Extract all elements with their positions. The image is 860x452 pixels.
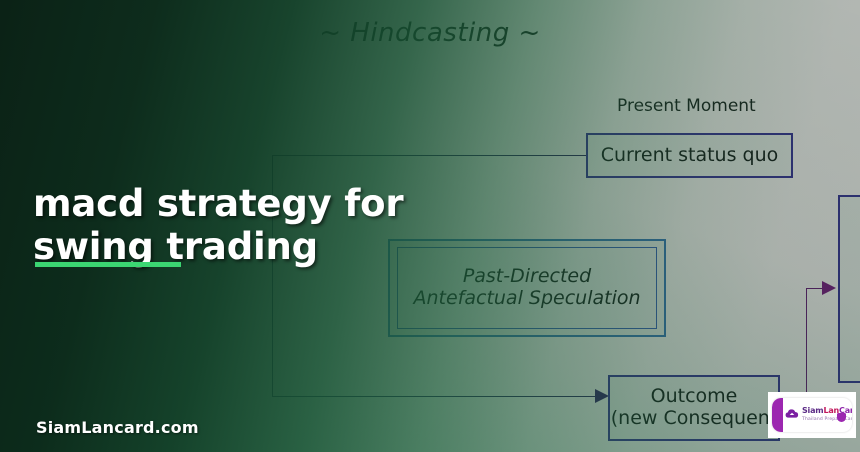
headline: macd strategy for swing trading bbox=[33, 183, 503, 269]
box-outcome: Outcome (new Consequent bbox=[608, 375, 780, 441]
present-moment-label: Present Moment bbox=[617, 96, 756, 116]
cloud-icon bbox=[785, 408, 799, 419]
box-right-edge-partial bbox=[838, 195, 860, 383]
headline-underline-accent bbox=[35, 262, 181, 267]
siamlancard-logo-badge[interactable]: SiamLanCard Thailand Prepaid Card bbox=[768, 392, 856, 438]
site-name-watermark: SiamLancard.com bbox=[36, 418, 199, 437]
box-current-status-quo: Current status quo bbox=[586, 133, 793, 178]
connector-top-horizontal bbox=[272, 155, 586, 156]
outcome-line-1: Outcome bbox=[611, 386, 778, 408]
arrowhead-purple-to-right-box bbox=[822, 281, 836, 295]
arrowhead-to-outcome bbox=[595, 389, 609, 403]
speculation-line-2: Antefactual Speculation bbox=[413, 288, 640, 310]
connector-bottom-horizontal bbox=[272, 396, 607, 397]
diagram-title: ~ Hindcasting ~ bbox=[0, 18, 860, 48]
connector-purple-vertical bbox=[806, 288, 807, 396]
headline-line-1: macd strategy for bbox=[33, 183, 503, 226]
speculation-line-1: Past-Directed bbox=[413, 266, 640, 288]
logo-card: SiamLanCard Thailand Prepaid Card bbox=[772, 398, 852, 432]
logo-brand-siam: Siam bbox=[802, 406, 823, 415]
logo-badge-mark bbox=[837, 413, 846, 422]
logo-purple-bar bbox=[772, 398, 783, 432]
outcome-line-2: (new Consequent bbox=[611, 408, 778, 430]
screenshot-root: ~ Hindcasting ~ Present Moment Current s… bbox=[0, 0, 860, 452]
